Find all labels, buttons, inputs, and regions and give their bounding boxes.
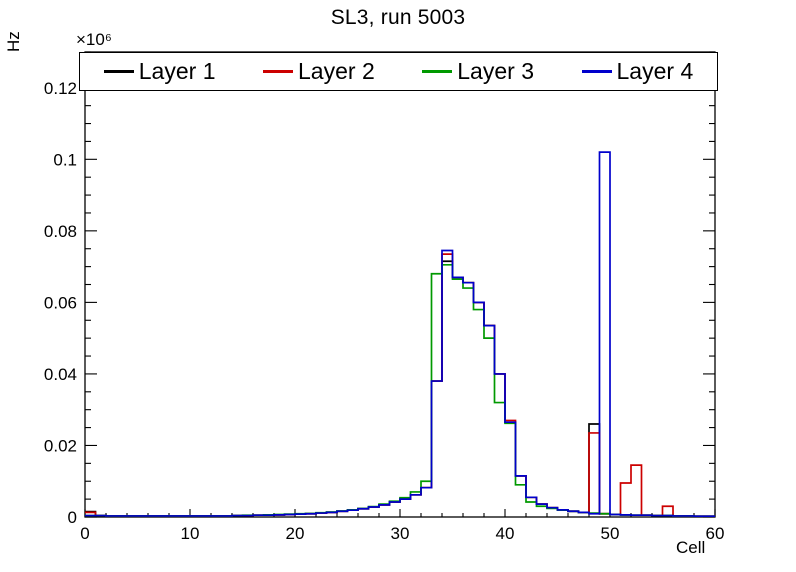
svg-text:40: 40 <box>496 524 515 543</box>
chart-legend: Layer 1 Layer 2 Layer 3 Layer 4 <box>79 52 718 91</box>
series-line-layer-4 <box>85 152 715 516</box>
svg-text:0.04: 0.04 <box>44 365 77 384</box>
legend-label-layer-1: Layer 1 <box>139 60 216 83</box>
svg-text:0.1: 0.1 <box>53 150 77 169</box>
svg-text:0.08: 0.08 <box>44 222 77 241</box>
svg-text:0: 0 <box>80 524 89 543</box>
legend-swatch-layer-4 <box>582 70 612 73</box>
legend-entry-layer-1[interactable]: Layer 1 <box>102 60 218 83</box>
svg-text:50: 50 <box>601 524 620 543</box>
plot-frame <box>85 52 715 517</box>
svg-text:0.06: 0.06 <box>44 293 77 312</box>
svg-text:0.02: 0.02 <box>44 436 77 455</box>
svg-text:0: 0 <box>68 508 77 527</box>
root-canvas: SL3, run 5003 Hz ×10⁶ Cell 0102030405060… <box>0 0 796 572</box>
svg-text:30: 30 <box>391 524 410 543</box>
data-series-group <box>85 152 715 516</box>
svg-text:10: 10 <box>181 524 200 543</box>
svg-text:0.12: 0.12 <box>44 79 77 98</box>
legend-entry-layer-4[interactable]: Layer 4 <box>580 60 696 83</box>
axis-tick-labels: 010203040506000.020.040.060.080.10.12 <box>44 79 725 543</box>
legend-swatch-layer-3 <box>422 70 452 73</box>
series-line-layer-2 <box>85 254 715 516</box>
legend-entry-layer-2[interactable]: Layer 2 <box>261 60 377 83</box>
svg-text:60: 60 <box>706 524 725 543</box>
series-line-layer-1 <box>85 261 715 516</box>
axis-ticks <box>85 52 715 517</box>
legend-swatch-layer-1 <box>104 70 134 73</box>
series-line-layer-3 <box>85 265 715 516</box>
svg-text:20: 20 <box>286 524 305 543</box>
legend-label-layer-4: Layer 4 <box>617 60 694 83</box>
legend-label-layer-2: Layer 2 <box>298 60 375 83</box>
legend-entry-layer-3[interactable]: Layer 3 <box>420 60 536 83</box>
legend-label-layer-3: Layer 3 <box>457 60 534 83</box>
legend-swatch-layer-2 <box>263 70 293 73</box>
